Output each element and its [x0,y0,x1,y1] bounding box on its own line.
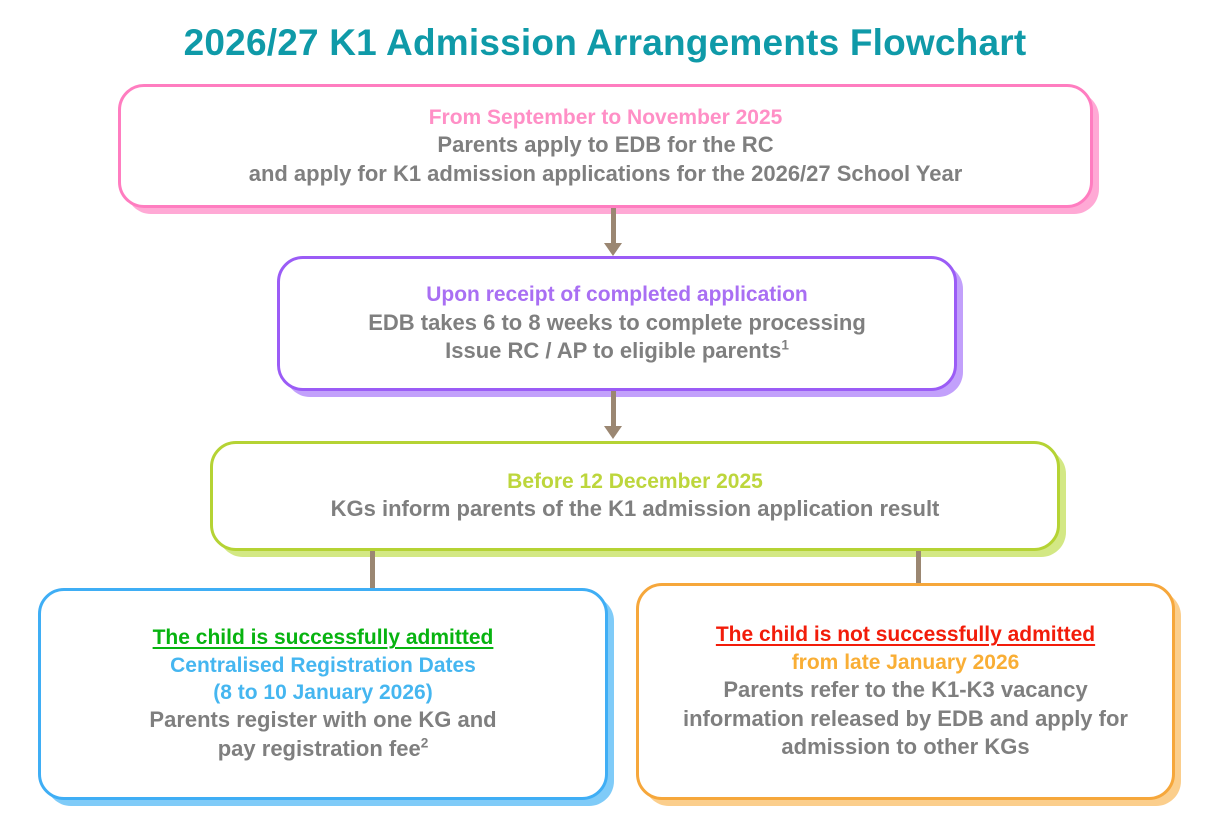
apply-heading: From September to November 2025 [429,104,783,131]
flow-node-not-admitted: The child is not successfully admitted f… [636,583,1175,800]
processing-heading: Upon receipt of completed application [426,281,808,308]
connector-apply-to-processing [611,208,616,248]
admitted-subheading-line-1: Centralised Registration Dates [170,652,476,679]
connector-result-to-admitted [370,551,375,592]
processing-footnote-marker: 1 [781,338,789,353]
arrowhead-down-icon [604,243,622,256]
apply-body-line-2: and apply for K1 admission applications … [249,160,963,189]
flow-node-processing: Upon receipt of completed application ED… [277,256,957,391]
not-admitted-body-line-3: admission to other KGs [781,733,1029,762]
not-admitted-heading: The child is not successfully admitted [716,621,1095,648]
admitted-subheading-line-2: (8 to 10 January 2026) [213,679,432,706]
arrowhead-down-icon [604,426,622,439]
not-admitted-body-line-1: Parents refer to the K1-K3 vacancy [723,676,1087,705]
page-title: 2026/27 K1 Admission Arrangements Flowch… [0,22,1210,64]
admitted-heading: The child is successfully admitted [153,624,494,651]
admitted-body-line-2-text: pay registration fee [218,736,421,761]
flowchart-canvas: 2026/27 K1 Admission Arrangements Flowch… [0,0,1210,832]
flow-node-admitted: The child is successfully admitted Centr… [38,588,608,800]
connector-processing-to-result [611,391,616,431]
flow-node-apply: From September to November 2025 Parents … [118,84,1093,208]
processing-body-line-1: EDB takes 6 to 8 weeks to complete proce… [368,309,866,338]
admitted-body-line-1: Parents register with one KG and [149,706,496,735]
admitted-body-line-2: pay registration fee2 [218,735,429,764]
processing-body-line-2: Issue RC / AP to eligible parents1 [445,337,789,366]
flow-node-result: Before 12 December 2025 KGs inform paren… [210,441,1060,551]
connector-result-to-not-admitted [916,551,921,587]
apply-body-line-1: Parents apply to EDB for the RC [437,131,773,160]
processing-body-line-2-text: Issue RC / AP to eligible parents [445,338,781,363]
admitted-footnote-marker: 2 [421,736,429,751]
not-admitted-body-line-2: information released by EDB and apply fo… [683,705,1128,734]
result-heading: Before 12 December 2025 [507,468,763,495]
not-admitted-subheading-line-1: from late January 2026 [792,649,1020,676]
result-body-line-1: KGs inform parents of the K1 admission a… [331,495,940,524]
